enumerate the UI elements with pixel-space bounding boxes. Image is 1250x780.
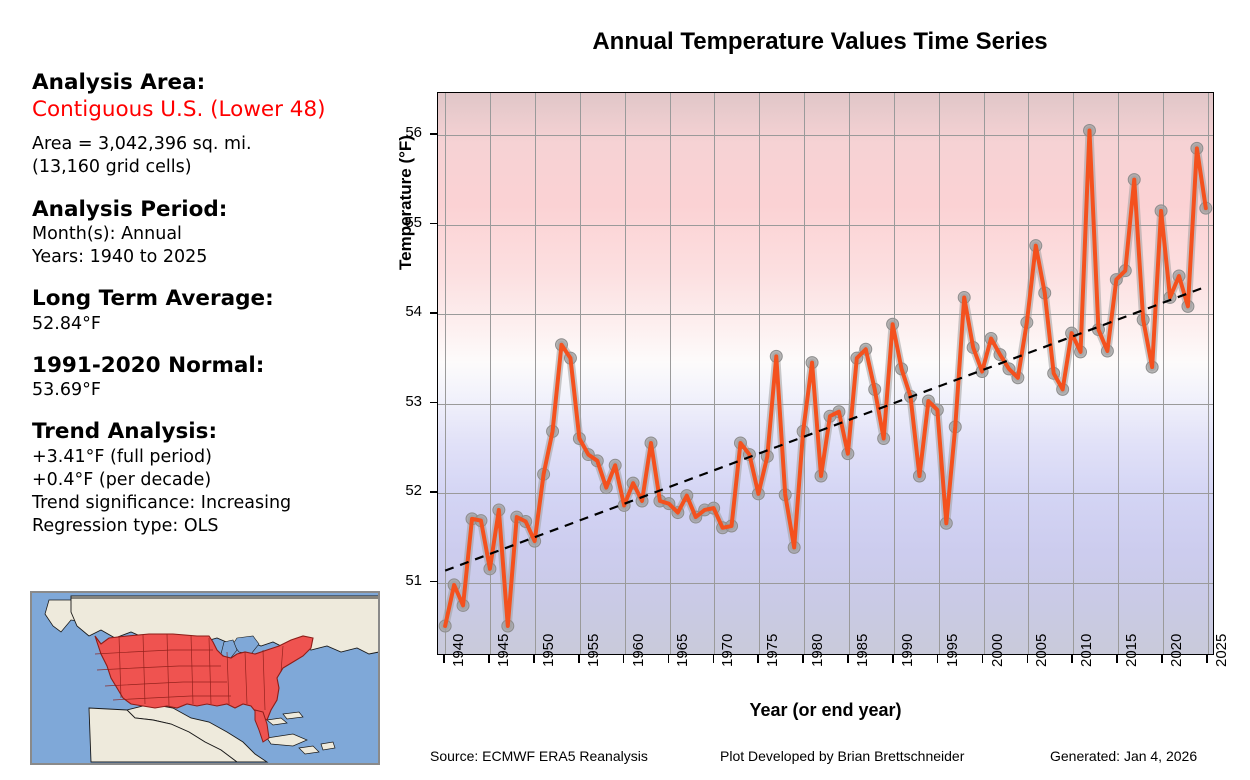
x-axis-tick — [892, 655, 894, 663]
x-axis-label: 2010 — [1078, 634, 1095, 667]
x-axis-tick — [757, 655, 759, 663]
x-axis-tick — [802, 655, 804, 663]
footer-developer: Plot Developed by Brian Brettschneider — [720, 748, 964, 764]
y-axis-label: 52 — [382, 482, 422, 499]
x-axis-label: 1990 — [899, 634, 916, 667]
footer-generated: Generated: Jan 4, 2026 — [1050, 748, 1197, 764]
analysis-area-map — [30, 591, 380, 765]
x-axis-label: 2025 — [1213, 634, 1230, 667]
x-axis-label: 2015 — [1123, 634, 1140, 667]
y-axis-tick — [430, 223, 437, 225]
regression-type: Regression type: OLS — [32, 515, 392, 538]
x-axis-label: 2020 — [1168, 634, 1185, 667]
x-axis-label: 2000 — [989, 634, 1006, 667]
temperature-series — [438, 93, 1213, 655]
y-axis-label: 53 — [382, 393, 422, 410]
chart-footer: Source: ECMWF ERA5 Reanalysis Plot Devel… — [400, 748, 1240, 768]
trend-analysis-heading: Trend Analysis: — [32, 419, 392, 445]
trend-significance: Trend significance: Increasing — [32, 492, 392, 515]
area-size-text: Area = 3,042,396 sq. mi. — [32, 133, 392, 156]
x-axis-tick — [847, 655, 849, 663]
normal-heading: 1991-2020 Normal: — [32, 353, 392, 379]
x-axis-tick — [937, 655, 939, 663]
y-axis-tick — [430, 402, 437, 404]
x-axis-tick — [1027, 655, 1029, 663]
north-america-map-icon — [31, 592, 379, 764]
x-axis-title: Year (or end year) — [437, 700, 1214, 721]
x-axis-tick — [982, 655, 984, 663]
x-axis-label: 1975 — [764, 634, 781, 667]
months-text: Month(s): Annual — [32, 223, 392, 246]
y-axis-label: 54 — [382, 303, 422, 320]
x-axis-label: 1965 — [674, 634, 691, 667]
x-axis-label: 1960 — [630, 634, 647, 667]
x-axis-tick — [533, 655, 535, 663]
x-axis-label: 1950 — [540, 634, 557, 667]
x-axis-tick — [578, 655, 580, 663]
x-axis-label: 1980 — [809, 634, 826, 667]
x-axis-label: 1985 — [854, 634, 871, 667]
plot-area — [437, 92, 1214, 655]
normal-value: 53.69°F — [32, 379, 392, 402]
x-axis-tick — [623, 655, 625, 663]
trend-per-decade: +0.4°F (per decade) — [32, 469, 392, 492]
x-axis-label: 1945 — [495, 634, 512, 667]
analysis-area-heading: Analysis Area: — [32, 70, 392, 96]
chart-title: Annual Temperature Values Time Series — [400, 28, 1240, 56]
x-axis-tick — [1206, 655, 1208, 663]
x-axis-tick — [488, 655, 490, 663]
x-axis-tick — [1116, 655, 1118, 663]
x-axis-label: 1970 — [719, 634, 736, 667]
x-axis-tick — [443, 655, 445, 663]
y-axis-tick — [430, 581, 437, 583]
y-axis-label: 55 — [382, 214, 422, 231]
long-term-average-heading: Long Term Average: — [32, 286, 392, 312]
series-line — [445, 130, 1206, 625]
x-axis-label: 1940 — [450, 634, 467, 667]
x-axis-tick — [1071, 655, 1073, 663]
trend-full-period: +3.41°F (full period) — [32, 446, 392, 469]
y-axis-tick — [430, 491, 437, 493]
trend-line — [445, 287, 1206, 571]
analysis-area-value: Contiguous U.S. (Lower 48) — [32, 96, 392, 124]
analysis-period-heading: Analysis Period: — [32, 197, 392, 223]
y-axis-label: 56 — [382, 124, 422, 141]
y-axis-tick — [430, 312, 437, 314]
long-term-average-value: 52.84°F — [32, 313, 392, 336]
x-axis-tick — [668, 655, 670, 663]
y-axis-title: Temperature (°F) — [396, 135, 416, 270]
y-axis-label: 51 — [382, 572, 422, 589]
x-axis-label: 2005 — [1033, 634, 1050, 667]
years-text: Years: 1940 to 2025 — [32, 246, 392, 269]
analysis-sidebar: Analysis Area: Contiguous U.S. (Lower 48… — [32, 70, 392, 539]
x-axis-tick — [1161, 655, 1163, 663]
x-axis-label: 1955 — [585, 634, 602, 667]
x-axis-tick — [713, 655, 715, 663]
footer-source: Source: ECMWF ERA5 Reanalysis — [430, 748, 648, 764]
grid-cells-text: (13,160 grid cells) — [32, 156, 392, 179]
spacer — [32, 124, 392, 133]
chart-region: Annual Temperature Values Time Series Te… — [400, 0, 1250, 780]
x-axis-label: 1995 — [944, 634, 961, 667]
y-axis-tick — [430, 133, 437, 135]
